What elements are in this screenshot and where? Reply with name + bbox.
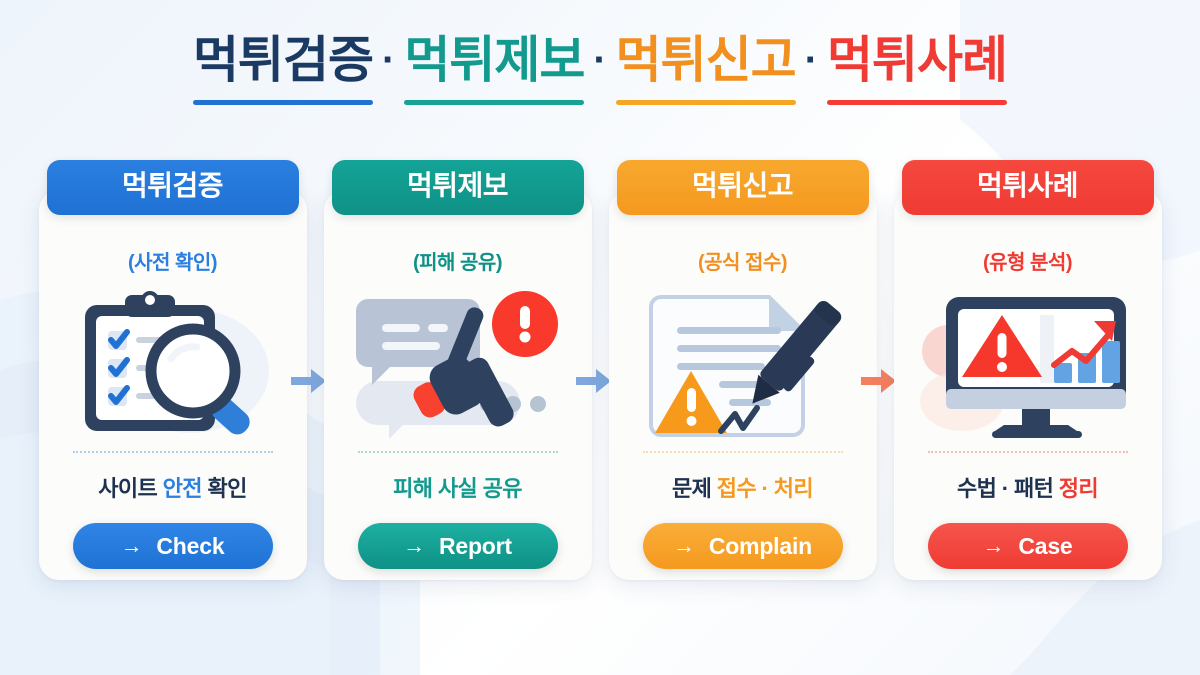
cta-button-check[interactable]: →Check	[73, 523, 273, 569]
step-tagline-case: 수법 · 패턴 정리	[957, 471, 1098, 503]
step-tagline-report: 피해 사실 공유	[393, 471, 522, 503]
title-segment-underline	[827, 100, 1007, 105]
title-separator: ·	[373, 40, 404, 80]
title-segment-1: 먹튀검증	[193, 34, 373, 105]
title-segment-underline	[404, 100, 584, 105]
arrow-right-icon: →	[121, 535, 143, 557]
card-slot-complain: 먹튀신고(공식 접수) 문제 접수 · 처리→Complain	[600, 148, 885, 580]
step-card-complain[interactable]: 먹튀신고(공식 접수) 문제 접수 · 처리→Complain	[609, 190, 877, 580]
step-card-check[interactable]: 먹튀검증(사전 확인) 사이트 안전 확인→Check	[39, 190, 307, 580]
card-slot-report: 먹튀제보(피해 공유) 피해 사실 공유→Report	[315, 148, 600, 580]
monitor-alert-chart-icon	[918, 289, 1138, 439]
page-title: 먹튀검증·먹튀제보·먹튀신고·먹튀사례	[0, 34, 1200, 105]
cta-label: Case	[1018, 533, 1072, 560]
cta-button-complain[interactable]: →Complain	[643, 523, 843, 569]
step-subtitle-complain: (공식 접수)	[698, 246, 787, 275]
clipboard-magnifier-icon	[63, 289, 283, 439]
title-segment-4: 먹튀사례	[827, 34, 1007, 105]
title-separator: ·	[796, 40, 827, 80]
cta-button-case[interactable]: →Case	[928, 523, 1128, 569]
step-illustration-complain	[628, 289, 858, 439]
title-segment-underline	[193, 100, 373, 105]
tagline-part: 피해 사실 공유	[393, 476, 522, 501]
megaphone-speech-alert-icon	[348, 289, 568, 439]
card-divider	[643, 451, 843, 453]
card-divider	[358, 451, 558, 453]
title-segment-text: 먹튀제보	[404, 34, 584, 86]
title-segment-3: 먹튀신고	[616, 34, 796, 105]
step-illustration-check	[58, 289, 288, 439]
arrow-right-icon: →	[673, 535, 695, 557]
step-tagline-check: 사이트 안전 확인	[98, 471, 247, 503]
document-pen-warning-icon	[633, 289, 853, 439]
step-badge-report: 먹튀제보	[332, 160, 584, 215]
title-segment-underline	[616, 100, 796, 105]
title-segment-text: 먹튀검증	[193, 34, 373, 86]
step-badge-case: 먹튀사례	[902, 160, 1154, 215]
step-subtitle-report: (피해 공유)	[413, 246, 502, 275]
card-divider	[73, 451, 273, 453]
step-illustration-report	[343, 289, 573, 439]
infographic-page: 먹튀검증·먹튀제보·먹튀신고·먹튀사례 먹튀검증(사전 확인) 사이트 안전 확…	[0, 0, 1200, 675]
step-illustration-case	[913, 289, 1143, 439]
tagline-part: 안전	[163, 476, 202, 501]
cta-button-report[interactable]: →Report	[358, 523, 558, 569]
card-divider	[928, 451, 1128, 453]
step-card-report[interactable]: 먹튀제보(피해 공유) 피해 사실 공유→Report	[324, 190, 592, 580]
step-card-case[interactable]: 먹튀사례(유형 분석) 수법 · 패턴 정리→Case	[894, 190, 1162, 580]
cta-label: Report	[439, 533, 512, 560]
tagline-part: 문제	[672, 476, 717, 501]
cta-label: Check	[156, 533, 224, 560]
tagline-part: 정리	[1059, 476, 1098, 501]
title-separator: ·	[584, 40, 615, 80]
cta-label: Complain	[709, 533, 812, 560]
arrow-right-icon: →	[403, 535, 425, 557]
tagline-part: 사이트	[98, 476, 162, 501]
title-segment-text: 먹튀사례	[827, 34, 1007, 86]
step-badge-complain: 먹튀신고	[617, 160, 869, 215]
step-subtitle-check: (사전 확인)	[128, 246, 217, 275]
card-slot-case: 먹튀사례(유형 분석) 수법 · 패턴 정리→Case	[885, 148, 1170, 580]
tagline-part: 확인	[202, 476, 247, 501]
step-tagline-complain: 문제 접수 · 처리	[672, 471, 813, 503]
tagline-part: 수법 · 패턴	[957, 476, 1059, 501]
process-steps: 먹튀검증(사전 확인) 사이트 안전 확인→Check먹튀제보(피해 공유)	[0, 148, 1200, 618]
arrow-right-icon: →	[983, 535, 1005, 557]
step-subtitle-case: (유형 분석)	[983, 246, 1072, 275]
title-segment-text: 먹튀신고	[616, 34, 796, 86]
card-slot-check: 먹튀검증(사전 확인) 사이트 안전 확인→Check	[30, 148, 315, 580]
step-badge-check: 먹튀검증	[47, 160, 299, 215]
tagline-part: 접수 · 처리	[717, 476, 813, 501]
title-segment-2: 먹튀제보	[404, 34, 584, 105]
